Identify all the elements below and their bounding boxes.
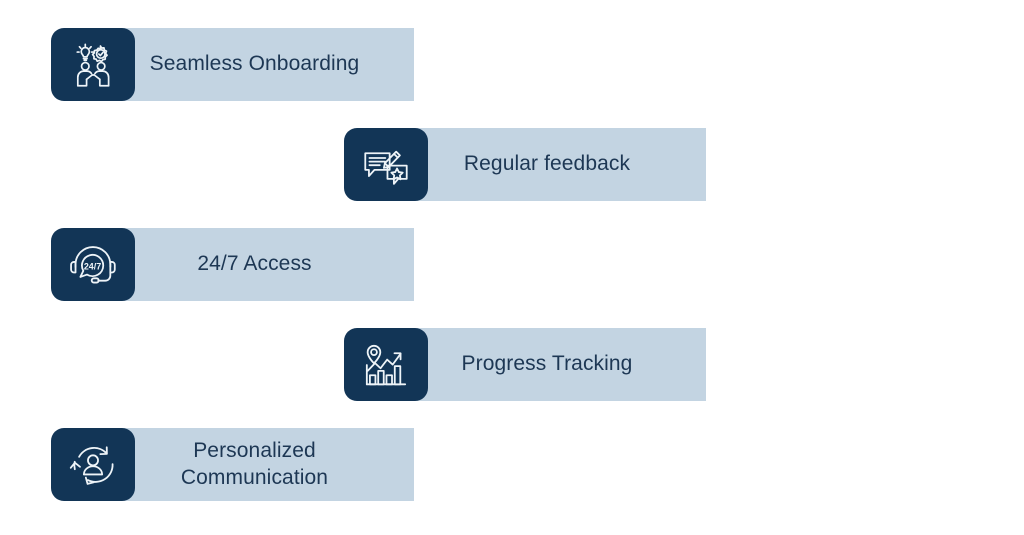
headset-24-7-support-icon: 24/7: [67, 239, 119, 291]
feature-label-plate: 24/7 Access: [95, 228, 414, 301]
feature-label: Progress Tracking: [462, 351, 633, 378]
feature-row[interactable]: Progress Tracking: [344, 328, 428, 401]
infographic-canvas: Seamless Onboarding: [0, 0, 1024, 535]
headset-icon-label: 24/7: [84, 261, 101, 271]
feature-row[interactable]: Seamless Onboarding: [51, 28, 135, 101]
feature-label: Seamless Onboarding: [150, 51, 360, 78]
feature-icon-tile[interactable]: [344, 328, 428, 401]
feature-label-plate: Seamless Onboarding: [95, 28, 414, 101]
person-circular-arrows-icon: [67, 439, 119, 491]
feature-label-plate: Progress Tracking: [388, 328, 706, 401]
feature-row[interactable]: 24/7 Access 24/7: [51, 228, 135, 301]
feature-label-plate: Personalized Communication: [95, 428, 414, 501]
feature-row[interactable]: Personalized Communication: [51, 428, 135, 501]
feature-icon-tile[interactable]: 24/7: [51, 228, 135, 301]
feature-icon-tile[interactable]: [51, 428, 135, 501]
feature-label: Regular feedback: [464, 151, 630, 178]
feature-label: 24/7 Access: [197, 251, 311, 278]
feedback-speech-bubbles-pen-star-icon: [360, 139, 412, 191]
feature-icon-tile[interactable]: [51, 28, 135, 101]
onboarding-idea-gear-people-icon: [67, 39, 119, 91]
feature-row[interactable]: Regular feedback: [344, 128, 428, 201]
feature-icon-tile[interactable]: [344, 128, 428, 201]
bar-chart-growth-pin-icon: [360, 339, 412, 391]
feature-label-plate: Regular feedback: [388, 128, 706, 201]
feature-label: Personalized Communication: [181, 438, 328, 492]
